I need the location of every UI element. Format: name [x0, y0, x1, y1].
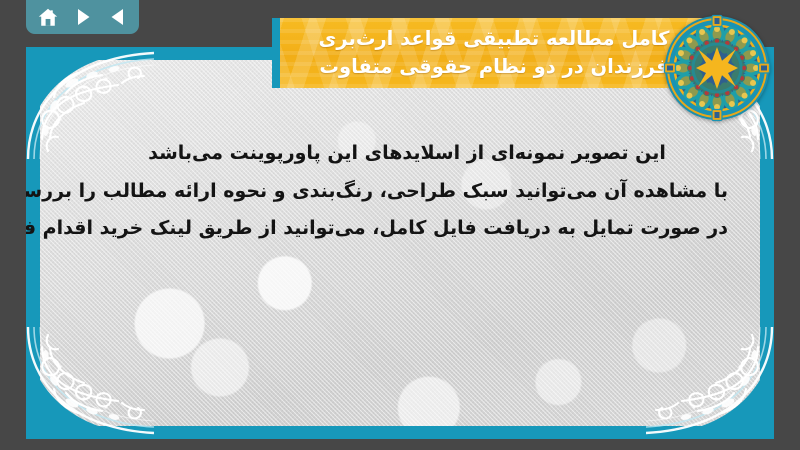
next-slide-button[interactable] — [72, 6, 94, 28]
previous-slide-button[interactable] — [107, 6, 129, 28]
body-line-1: این تصویر نمونه‌ای از اسلایدهای این پاور… — [86, 135, 728, 173]
body-line-2: با مشاهده آن می‌توانید سبک طراحی، رنگ‌بن… — [86, 173, 728, 211]
title-line-1: کامل مطالعه تطبیقی قواعد ارث‌بری — [286, 25, 702, 53]
home-button[interactable] — [37, 6, 59, 28]
body-line-3: در صورت تمایل به دریافت فایل کامل، می‌تو… — [86, 210, 728, 248]
slide-title-banner: کامل مطالعه تطبیقی قواعد ارث‌بری فرزندان… — [272, 18, 724, 88]
slide-title: کامل مطالعه تطبیقی قواعد ارث‌بری فرزندان… — [272, 25, 724, 80]
slide-navigation-bar — [26, 0, 139, 34]
powerpoint-slide[interactable]: این تصویر نمونه‌ای از اسلایدهای این پاور… — [26, 47, 774, 439]
slide-body-text: این تصویر نمونه‌ای از اسلایدهای این پاور… — [86, 135, 728, 248]
persian-shamseh-medallion-icon — [663, 14, 771, 122]
title-line-2: فرزندان در دو نظام حقوقی متفاوت — [286, 53, 702, 81]
